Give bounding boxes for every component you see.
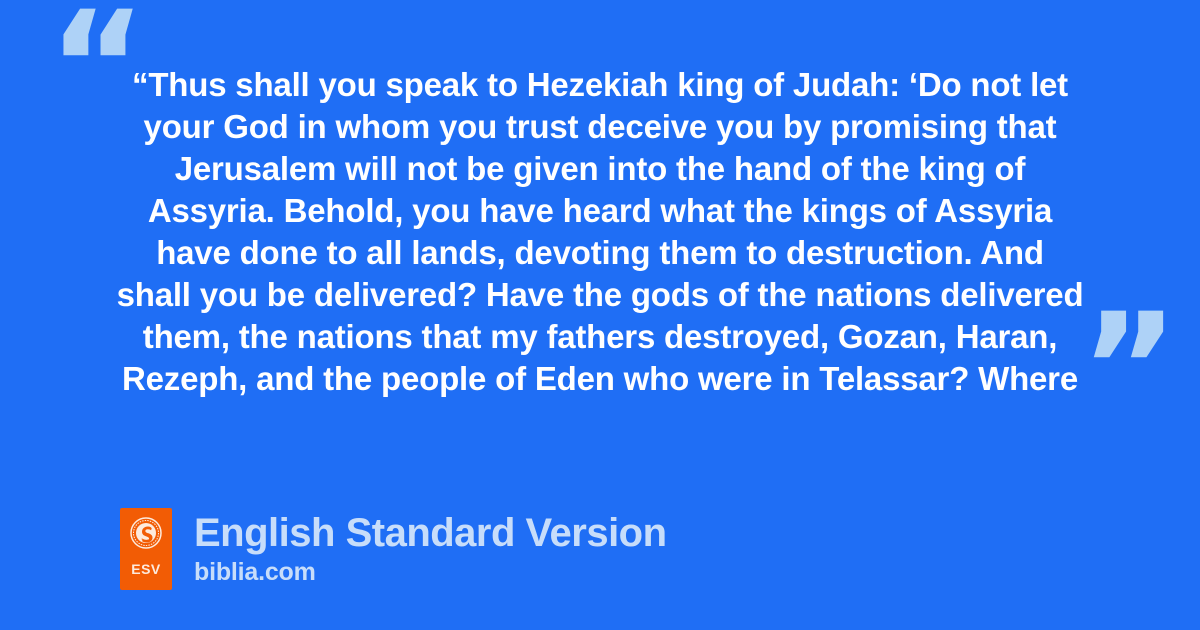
verse-image-card: “ “Thus shall you speak to Hezekiah king…	[0, 0, 1200, 630]
quote-line: your God in whom you trust deceive you b…	[100, 106, 1100, 148]
esv-logo: ESV	[120, 508, 172, 590]
bible-version-title: English Standard Version	[194, 510, 667, 556]
quote-text-block: “Thus shall you speak to Hezekiah king o…	[100, 64, 1100, 400]
quote-line: them, the nations that my fathers destro…	[100, 316, 1100, 358]
brand-text-group: English Standard Version biblia.com	[194, 508, 667, 587]
closing-quote-icon: ”	[1080, 294, 1177, 444]
site-url[interactable]: biblia.com	[194, 557, 667, 587]
quote-line: shall you be delivered? Have the gods of…	[100, 274, 1100, 316]
quote-line: “Thus shall you speak to Hezekiah king o…	[100, 64, 1100, 106]
esv-logo-abbreviation: ESV	[131, 562, 161, 576]
quote-line: have done to all lands, devoting them to…	[100, 232, 1100, 274]
esv-seal-icon	[130, 517, 162, 549]
quote-line: Rezeph, and the people of Eden who were …	[100, 358, 1100, 400]
quote-line: Jerusalem will not be given into the han…	[100, 148, 1100, 190]
quote-line: Assyria. Behold, you have heard what the…	[100, 190, 1100, 232]
branding: ESV English Standard Version biblia.com	[120, 508, 667, 590]
